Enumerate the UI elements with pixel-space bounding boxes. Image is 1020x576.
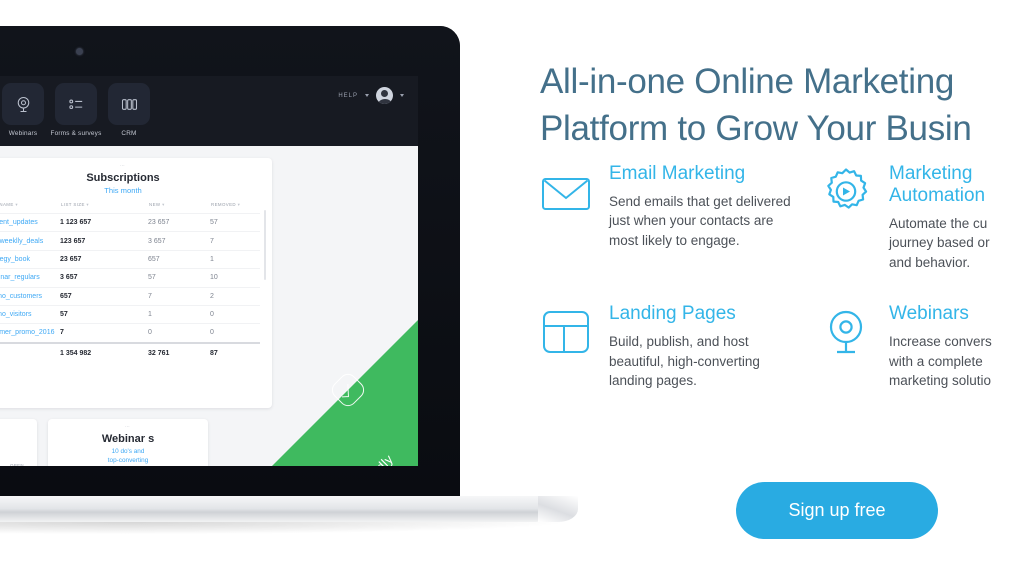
- cell-removed: 2: [210, 287, 260, 305]
- feature-description: Build, publish, and host beautiful, high…: [609, 332, 760, 391]
- drag-handle-icon[interactable]: ⋯: [125, 424, 131, 430]
- list-icon: [55, 83, 97, 125]
- feature-marketing-automation: Marketing Automation Automate the cu jou…: [820, 162, 1020, 302]
- table-row[interactable]: promo_customers 657 7 2: [0, 287, 260, 305]
- column-header-removed[interactable]: REMOVED ▾: [210, 201, 260, 214]
- sign-up-free-button[interactable]: Sign up free: [736, 482, 938, 539]
- cell-new: 1: [148, 305, 210, 323]
- cell-list-size: 23 657: [60, 250, 148, 268]
- laptop-lid: Automation Landing pages: [0, 26, 460, 496]
- chevron-down-icon[interactable]: [400, 94, 404, 97]
- autoresponders-table: CYCLE DAY ▾ MESSAGE NAME ▾ WILL RECEIVE …: [0, 462, 25, 466]
- feature-row-2: Landing Pages Build, publish, and host b…: [540, 302, 1020, 421]
- subscriptions-table-wrap: LIST NAME ▾ LIST SIZE ▾ NEW ▾ REMOVED ▾ …: [0, 201, 272, 368]
- chevron-down-icon[interactable]: [365, 94, 369, 97]
- laptop-screen: Automation Landing pages: [0, 76, 418, 466]
- layout-icon: [540, 306, 592, 358]
- feature-description: Send emails that get delivered just when…: [609, 192, 791, 251]
- feature-text: Webinars Increase convers with a complet…: [889, 302, 992, 391]
- card-time-based-autoresponders: ⋯ Time-based autoresponders top_weekly_d…: [0, 419, 37, 466]
- columns-icon: [108, 83, 150, 125]
- table-row[interactable]: strategy_book 23 657 657 1: [0, 250, 260, 268]
- nav-label: Webinars: [9, 130, 37, 137]
- feature-title: Webinars: [889, 303, 992, 325]
- nav-item-webinars[interactable]: Webinars: [2, 83, 44, 137]
- hero-content: All-in-one Online Marketing Platform to …: [540, 0, 1020, 576]
- feature-email-marketing: Email Marketing Send emails that get del…: [540, 162, 820, 302]
- column-header-open-rate[interactable]: OPEN RATE ▾: [0, 462, 25, 466]
- cell-total-label: [0, 343, 60, 362]
- feature-title: Email Marketing: [609, 163, 791, 185]
- table-row[interactable]: content_updates 1 123 657 23 657 57: [0, 214, 260, 232]
- table-totals-row: 1 354 982 32 761 87: [0, 343, 260, 362]
- table-row[interactable]: top_weeklly_deals 123 657 3 657 7: [0, 232, 260, 250]
- cell-list-size: 657: [60, 287, 148, 305]
- feature-webinars: Webinars Increase convers with a complet…: [820, 302, 1020, 421]
- cell-total-removed: 87: [210, 343, 260, 362]
- webcam-icon: [820, 306, 872, 358]
- avatar[interactable]: [376, 87, 393, 104]
- feature-title: Landing Pages: [609, 303, 760, 325]
- feature-title: Marketing Automation: [889, 163, 990, 207]
- cell-new: 3 657: [148, 232, 210, 250]
- headline-line-1: All-in-one Online Marketing: [540, 62, 954, 101]
- autoresponders-table-wrap: CYCLE DAY ▾ MESSAGE NAME ▾ WILL RECEIVE …: [0, 462, 37, 466]
- cell-new: 0: [148, 324, 210, 343]
- feature-grid: Email Marketing Send emails that get del…: [540, 162, 1020, 421]
- cell-list-size: 7: [60, 324, 148, 343]
- page-title: All-in-one Online Marketing Platform to …: [540, 59, 1020, 152]
- cell-new: 7: [148, 287, 210, 305]
- laptop-mockup: Automation Landing pages: [0, 26, 530, 526]
- table-scrollbar[interactable]: [264, 210, 266, 280]
- feature-landing-pages: Landing Pages Build, publish, and host b…: [540, 302, 820, 421]
- cell-removed: 57: [210, 214, 260, 232]
- cell-list-name[interactable]: webinar_regulars: [0, 269, 60, 287]
- cell-list-size: 123 657: [60, 232, 148, 250]
- column-header-new[interactable]: NEW ▾: [148, 201, 210, 214]
- cell-removed: 10: [210, 269, 260, 287]
- nav-label: Forms & surveys: [51, 130, 102, 137]
- cell-removed: 0: [210, 305, 260, 323]
- cell-list-name[interactable]: content_updates: [0, 214, 60, 232]
- webcam-dot: [76, 48, 83, 55]
- help-menu-label[interactable]: HELP: [338, 93, 358, 99]
- webinar-line-1: 10 do's and: [48, 447, 208, 457]
- cell-total-new: 32 761: [148, 343, 210, 362]
- app-nav-right: HELP: [338, 87, 404, 104]
- cell-total-size: 1 354 982: [60, 343, 148, 362]
- card-subtitle[interactable]: top_weekly_deals: [0, 447, 37, 456]
- cell-removed: 1: [210, 250, 260, 268]
- cell-list-size: 1 123 657: [60, 214, 148, 232]
- cell-list-name[interactable]: promo_customers: [0, 287, 60, 305]
- table-row[interactable]: promo_visitors 57 1 0: [0, 305, 260, 323]
- webinar-line-2: top-converting: [48, 456, 208, 466]
- cell-removed: 0: [210, 324, 260, 343]
- card-title: Subscriptions: [0, 172, 272, 184]
- card-title: Webinar s: [48, 433, 208, 445]
- marketing-hero-page: Automation Landing pages: [0, 0, 1020, 576]
- cell-list-name[interactable]: top_weeklly_deals: [0, 232, 60, 250]
- table-row[interactable]: summer_promo_2016 7 0 0: [0, 324, 260, 343]
- cell-removed: 7: [210, 232, 260, 250]
- column-header-list-size[interactable]: LIST SIZE ▾: [60, 201, 148, 214]
- table-header-row: CYCLE DAY ▾ MESSAGE NAME ▾ WILL RECEIVE …: [0, 462, 25, 466]
- cell-list-size: 3 657: [60, 269, 148, 287]
- feature-description: Increase convers with a complete marketi…: [889, 332, 992, 391]
- feature-text: Landing Pages Build, publish, and host b…: [609, 302, 760, 391]
- card-subscriptions: ⋯ Subscriptions This month LIST NAME ▾ L…: [0, 158, 272, 408]
- app-nav-items: Automation Landing pages: [0, 83, 150, 137]
- column-header-list-name[interactable]: LIST NAME ▾: [0, 201, 60, 214]
- envelope-icon: [540, 166, 592, 218]
- cell-new: 657: [148, 250, 210, 268]
- app-nav-bar: Automation Landing pages: [0, 76, 418, 146]
- feature-description: Automate the cu journey based or and beh…: [889, 214, 990, 273]
- feature-text: Marketing Automation Automate the cu jou…: [889, 162, 990, 272]
- laptop-bezel: Automation Landing pages: [0, 26, 460, 496]
- subscriptions-rows: content_updates 1 123 657 23 657 57 top_…: [0, 214, 260, 362]
- subscriptions-table: LIST NAME ▾ LIST SIZE ▾ NEW ▾ REMOVED ▾ …: [0, 201, 260, 362]
- laptop-shadow: [0, 522, 560, 534]
- cell-list-name[interactable]: promo_visitors: [0, 305, 60, 323]
- dashboard: ⋯ Landing page stats Strategy eBook land…: [0, 146, 418, 466]
- cell-list-name[interactable]: strategy_book: [0, 250, 60, 268]
- webcam-icon: [2, 83, 44, 125]
- drag-handle-icon[interactable]: ⋯: [120, 163, 126, 169]
- cell-list-size: 57: [60, 305, 148, 323]
- table-header-row: LIST NAME ▾ LIST SIZE ▾ NEW ▾ REMOVED ▾: [0, 201, 260, 214]
- feature-text: Email Marketing Send emails that get del…: [609, 162, 791, 272]
- card-webinar-stats: ⋯ Webinar s 10 do's and top-converting ⋯: [48, 419, 208, 466]
- card-subtitle[interactable]: This month: [0, 186, 272, 195]
- nav-item-crm[interactable]: CRM: [108, 83, 150, 137]
- laptop-base: [0, 496, 550, 522]
- table-row[interactable]: webinar_regulars 3 657 57 10: [0, 269, 260, 287]
- cell-new: 23 657: [148, 214, 210, 232]
- cell-new: 57: [148, 269, 210, 287]
- feature-row-1: Email Marketing Send emails that get del…: [540, 162, 1020, 302]
- nav-item-forms-surveys[interactable]: Forms & surveys: [55, 83, 97, 137]
- nav-label: CRM: [121, 130, 136, 137]
- gear-play-icon: [820, 166, 872, 218]
- card-title: Time-based autoresponders: [0, 433, 37, 445]
- headline-line-2: Platform to Grow Your Busin: [540, 109, 972, 148]
- cell-list-name[interactable]: summer_promo_2016: [0, 324, 60, 343]
